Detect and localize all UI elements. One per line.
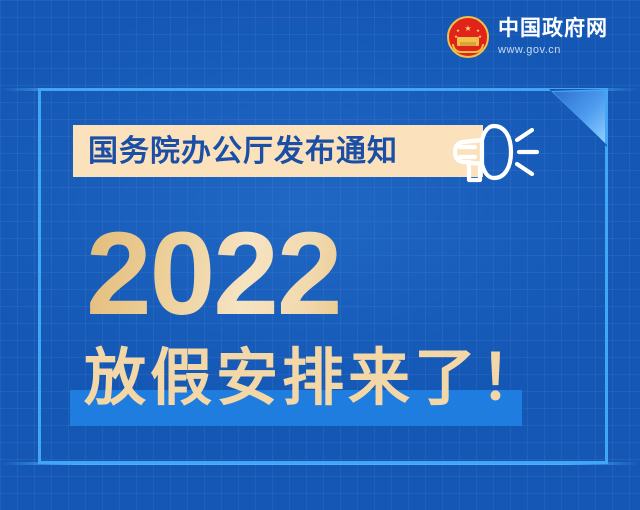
page-fold-corner-icon [549, 89, 607, 147]
site-logo[interactable]: ★ ★ ★ ★ ★ 中国政府网 www.gov.cn [447, 16, 608, 58]
poster-canvas: ★ ★ ★ ★ ★ 中国政府网 www.gov.cn 国务院办公厅发布通知 20… [0, 0, 640, 510]
emblem-wheat-wreath [452, 44, 484, 53]
megaphone-icon [447, 112, 543, 192]
emblem-small-star-1: ★ [456, 29, 460, 34]
site-name: 中国政府网 [498, 17, 608, 41]
notice-band-text: 国务院办公厅发布通知 [88, 129, 398, 175]
emblem-big-star: ★ [464, 25, 471, 33]
emblem-small-star-3: ★ [476, 29, 480, 34]
headline-text: 放假安排来了！ [84, 340, 546, 418]
site-url: www.gov.cn [498, 43, 608, 57]
national-emblem-icon: ★ ★ ★ ★ ★ [447, 16, 489, 58]
logo-text-block: 中国政府网 www.gov.cn [498, 17, 608, 57]
year-display: 2022 [86, 215, 341, 333]
